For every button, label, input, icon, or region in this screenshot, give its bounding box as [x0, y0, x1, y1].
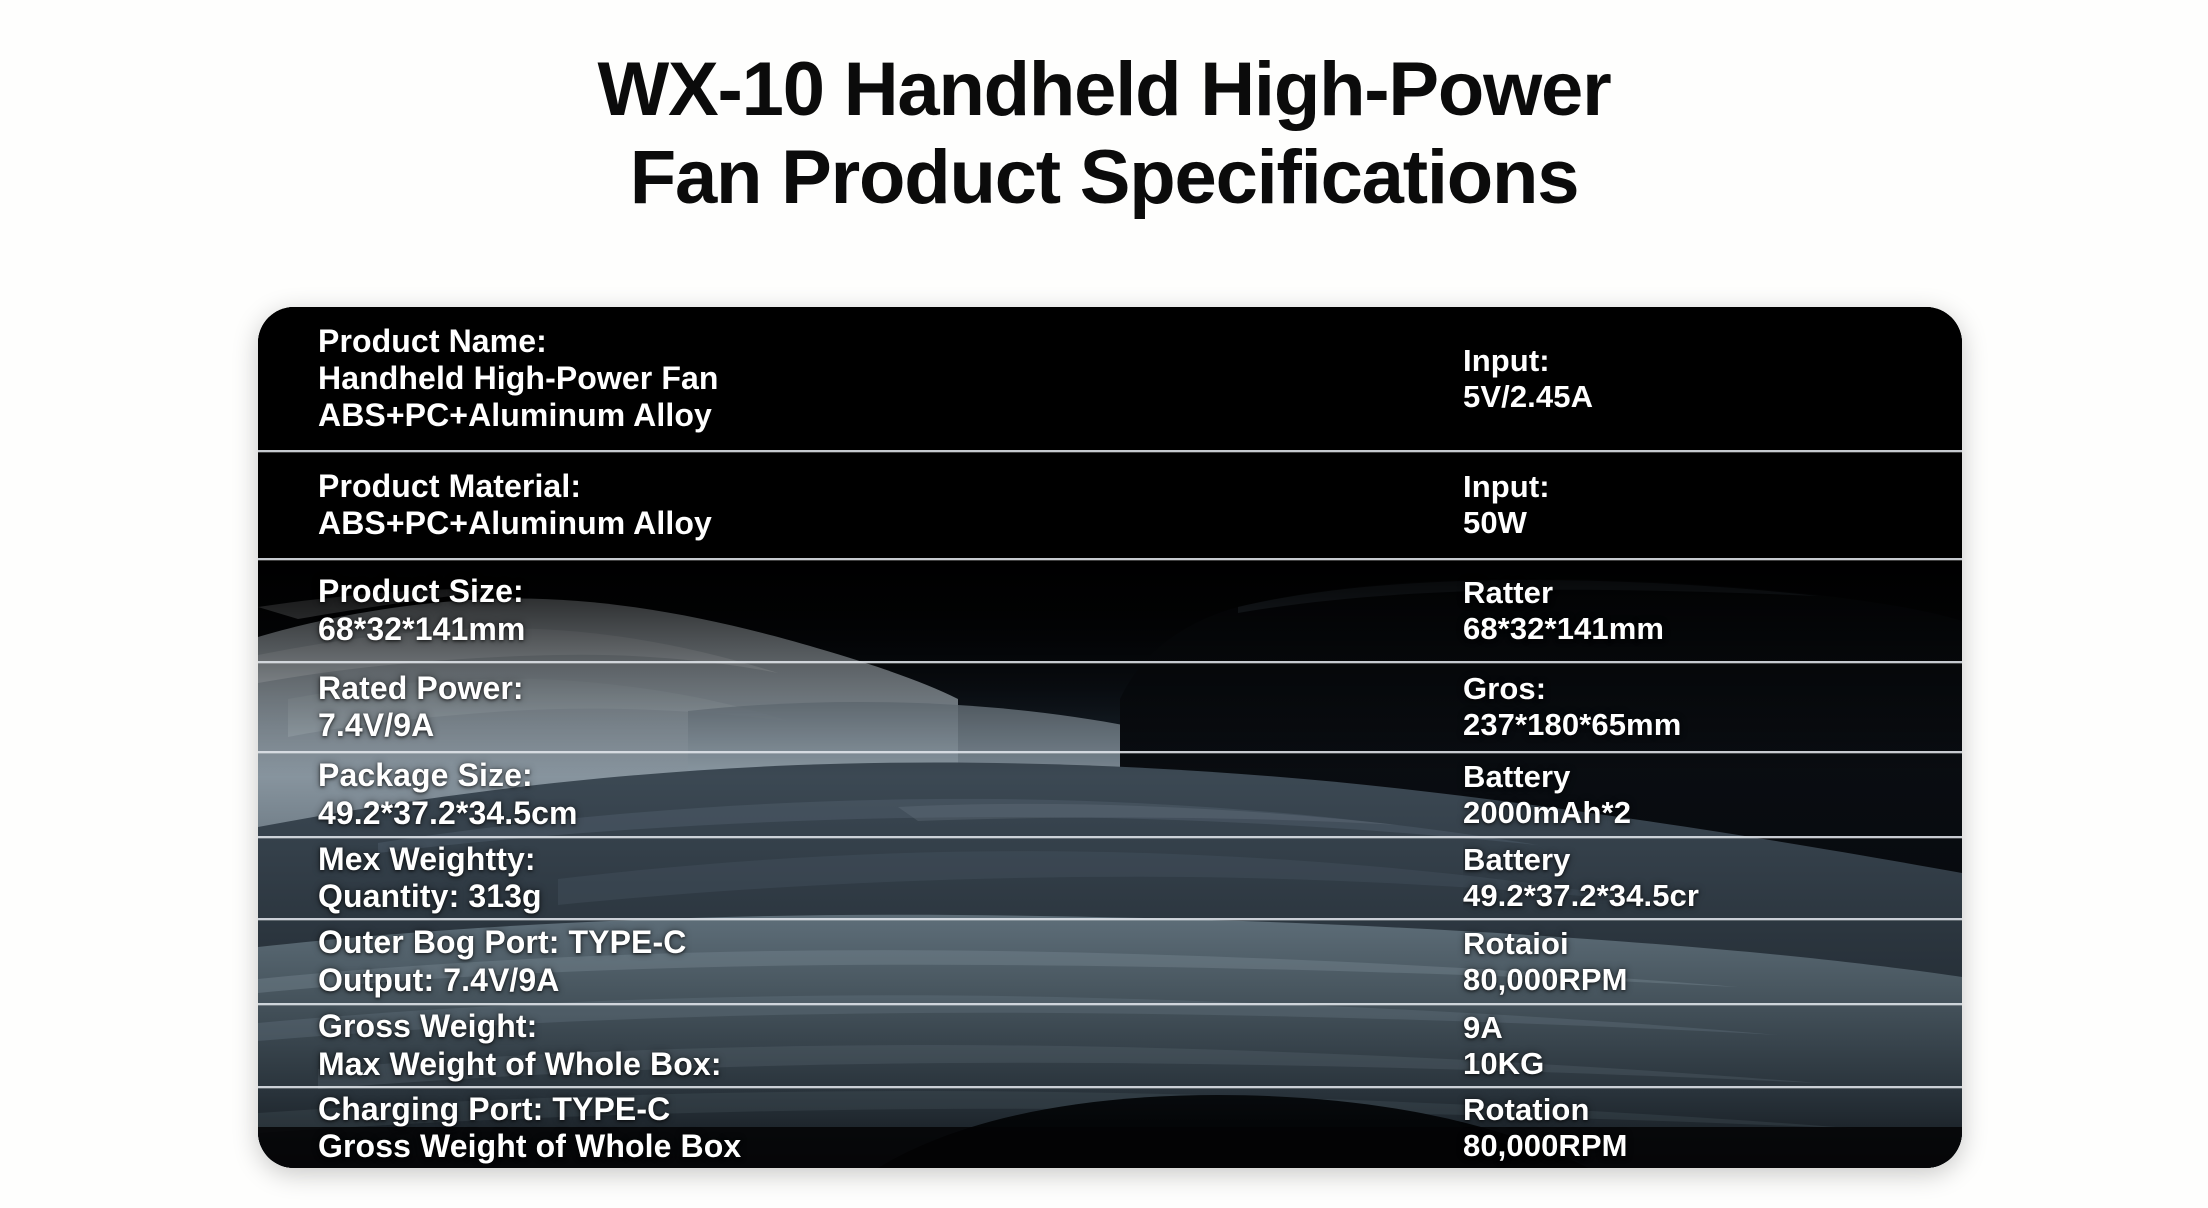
spec-value-cell: Input: 5V/2.45A — [1463, 343, 1914, 415]
page-title-line-2: Fan Product Specifications — [0, 134, 2208, 222]
spec-line: Gross Weight of Whole Box — [318, 1128, 1463, 1165]
page-title: WX-10 Handheld High-Power Fan Product Sp… — [0, 46, 2208, 222]
spec-line: Input: — [1463, 343, 1914, 379]
spec-line: Rotaioi — [1463, 926, 1914, 962]
spec-line: 80,000RPM — [1463, 962, 1914, 998]
spec-label-cell: Product Name: Handheld High-Power Fan AB… — [318, 323, 1463, 434]
table-row: Product Name: Handheld High-Power Fan AB… — [258, 307, 1962, 452]
spec-line: 49.2*37.2*34.5cm — [318, 795, 1463, 832]
table-row: Outer Bog Port: TYPE-C Output: 7.4V/9A R… — [258, 920, 1962, 1005]
spec-value-cell: Battery 2000mAh*2 — [1463, 759, 1914, 831]
spec-line: Output: 7.4V/9A — [318, 962, 1463, 999]
spec-line: 80,000RPM — [1463, 1128, 1914, 1164]
spec-line: Max Weight of Whole Box: — [318, 1046, 1463, 1083]
spec-label-cell: Product Size: 68*32*141mm — [318, 573, 1463, 647]
spec-line: Charging Port: TYPE-C — [318, 1091, 1463, 1128]
spec-line: ABS+PC+Aluminum Alloy — [318, 505, 1463, 542]
table-row: Charging Port: TYPE-C Gross Weight of Wh… — [258, 1088, 1962, 1168]
spec-line: 237*180*65mm — [1463, 707, 1914, 743]
table-row: Product Size: 68*32*141mm Ratter 68*32*1… — [258, 560, 1962, 663]
spec-value-cell: Rotaioi 80,000RPM — [1463, 926, 1914, 998]
table-row: Rated Power: 7.4V/9A Gros: 237*180*65mm — [258, 663, 1962, 753]
table-row: Gross Weight: Max Weight of Whole Box: 9… — [258, 1005, 1962, 1088]
spec-line: 68*32*141mm — [318, 611, 1463, 648]
spec-line: Handheld High-Power Fan — [318, 360, 1463, 397]
spec-line: 68*32*141mm — [1463, 611, 1914, 647]
spec-value-cell: Ratter 68*32*141mm — [1463, 575, 1914, 647]
spec-line: Rotation — [1463, 1092, 1914, 1128]
spec-line: Product Material: — [318, 468, 1463, 505]
spec-value-cell: Input: 50W — [1463, 469, 1914, 541]
spec-label-cell: Rated Power: 7.4V/9A — [318, 670, 1463, 744]
spec-line: 9A — [1463, 1010, 1914, 1046]
spec-line: Gros: — [1463, 671, 1914, 707]
spec-value-cell: Rotation 80,000RPM — [1463, 1092, 1914, 1164]
spec-label-cell: Package Size: 49.2*37.2*34.5cm — [318, 757, 1463, 831]
spec-line: Mex Weightty: — [318, 841, 1463, 878]
page-title-line-1: WX-10 Handheld High-Power — [0, 46, 2208, 134]
spec-line: 2000mAh*2 — [1463, 795, 1914, 831]
spec-line: 7.4V/9A — [318, 707, 1463, 744]
table-row: Mex Weightty: Quantity: 313g Battery 49.… — [258, 838, 1962, 920]
spec-label-cell: Gross Weight: Max Weight of Whole Box: — [318, 1008, 1463, 1082]
spec-line: Gross Weight: — [318, 1008, 1463, 1045]
spec-line: ABS+PC+Aluminum Alloy — [318, 397, 1463, 434]
spec-line: Product Name: — [318, 323, 1463, 360]
spec-line: Package Size: — [318, 757, 1463, 794]
spec-line: Product Size: — [318, 573, 1463, 610]
spec-label-cell: Mex Weightty: Quantity: 313g — [318, 841, 1463, 915]
spec-line: Ratter — [1463, 575, 1914, 611]
spec-line: Input: — [1463, 469, 1914, 505]
spec-label-cell: Outer Bog Port: TYPE-C Output: 7.4V/9A — [318, 924, 1463, 998]
spec-value-cell: Gros: 237*180*65mm — [1463, 671, 1914, 743]
spec-line: Battery — [1463, 842, 1914, 878]
spec-value-cell: 9A 10KG — [1463, 1010, 1914, 1082]
spec-label-cell: Charging Port: TYPE-C Gross Weight of Wh… — [318, 1091, 1463, 1165]
table-row: Package Size: 49.2*37.2*34.5cm Battery 2… — [258, 753, 1962, 838]
spec-line: Rated Power: — [318, 670, 1463, 707]
spec-line: 10KG — [1463, 1046, 1914, 1082]
spec-table: Product Name: Handheld High-Power Fan AB… — [258, 307, 1962, 1168]
table-row: Product Material: ABS+PC+Aluminum Alloy … — [258, 452, 1962, 560]
spec-line: 50W — [1463, 505, 1914, 541]
spec-line: Battery — [1463, 759, 1914, 795]
spec-label-cell: Product Material: ABS+PC+Aluminum Alloy — [318, 468, 1463, 542]
spec-line: Quantity: 313g — [318, 878, 1463, 915]
spec-line: 5V/2.45A — [1463, 379, 1914, 415]
spec-line: Outer Bog Port: TYPE-C — [318, 924, 1463, 961]
specifications-card: Product Name: Handheld High-Power Fan AB… — [258, 307, 1962, 1168]
spec-value-cell: Battery 49.2*37.2*34.5cr — [1463, 842, 1914, 914]
spec-line: 49.2*37.2*34.5cr — [1463, 878, 1914, 914]
page-root: WX-10 Handheld High-Power Fan Product Sp… — [0, 0, 2208, 1208]
